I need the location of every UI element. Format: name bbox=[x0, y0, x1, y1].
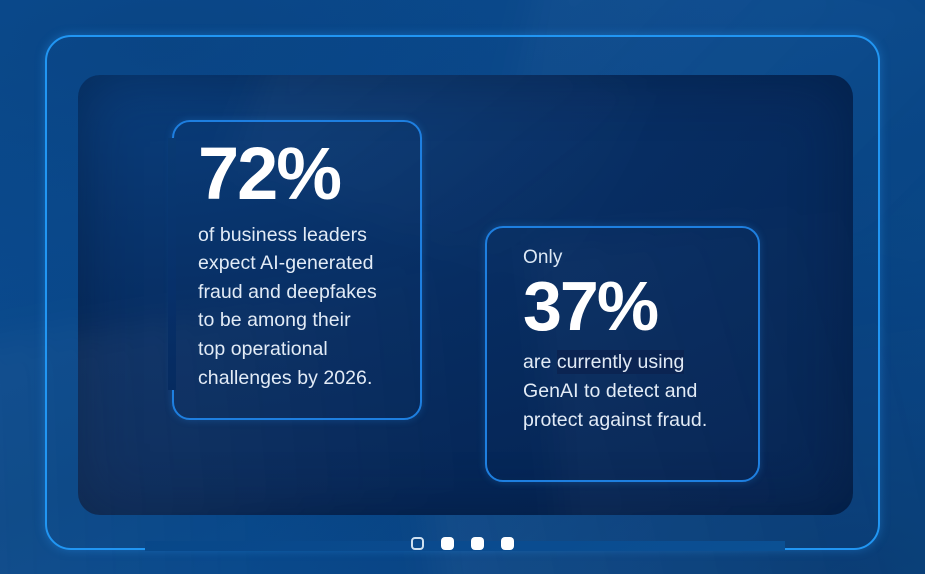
stat-number-72: 72% bbox=[198, 138, 416, 211]
stat-card-37: Only 37% are currently using GenAI to de… bbox=[485, 226, 760, 482]
stat-body-72-line: challenges by 2026. bbox=[198, 364, 416, 393]
stat-body-72-line: fraud and deepfakes bbox=[198, 278, 416, 307]
stat-body-72-line: expect AI-generated bbox=[198, 249, 416, 278]
stat-body-37-prefix: are bbox=[523, 351, 557, 373]
stat-number-37: 37% bbox=[523, 272, 743, 341]
pagination-dot-2[interactable] bbox=[441, 537, 454, 550]
stat-body-72-line: top operational bbox=[198, 335, 416, 364]
pagination bbox=[0, 537, 925, 550]
pagination-dot-1[interactable] bbox=[411, 537, 424, 550]
stat-body-37-suffix: GenAI to detect and protect against frau… bbox=[523, 380, 707, 431]
stat-body-72-line: to be among their bbox=[198, 306, 416, 335]
stat-card-72-outline-gap bbox=[168, 138, 176, 390]
stat-body-72-line: of business leaders bbox=[198, 221, 416, 250]
slide-canvas: 72% of business leaders expect AI-genera… bbox=[0, 0, 925, 574]
pagination-dot-4[interactable] bbox=[501, 537, 514, 550]
stat-body-72: of business leaders expect AI-generated … bbox=[198, 221, 416, 393]
stat-body-37: are currently using GenAI to detect and … bbox=[523, 348, 743, 434]
stat-card-72: 72% of business leaders expect AI-genera… bbox=[172, 120, 422, 420]
pagination-dot-3[interactable] bbox=[471, 537, 484, 550]
stat-body-37-highlight: currently using bbox=[557, 350, 685, 374]
